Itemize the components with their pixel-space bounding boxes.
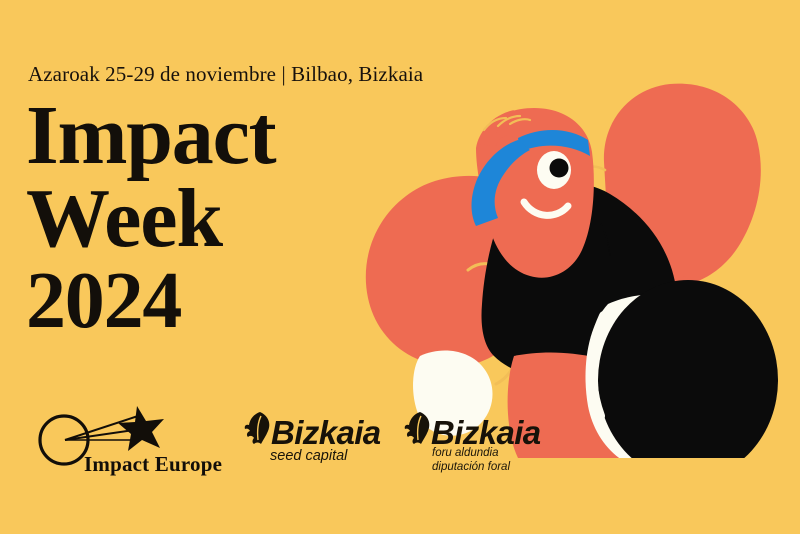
impact-week-poster: Azaroak 25-29 de noviembre | Bilbao, Biz… <box>0 0 800 534</box>
sponsor-logo-strip: Impact Europe Bizkaia seed capital <box>22 404 542 490</box>
bizkaia-seed-subtitle-line1: seed capital <box>270 448 347 465</box>
oak-leaf-icon <box>244 410 274 448</box>
oak-leaf-icon <box>404 410 434 448</box>
bizkaia-foral-wordmark: Bizkaia <box>431 417 541 448</box>
athlete-right-sneaker <box>585 280 778 458</box>
title-line-impact: Impact <box>26 96 275 177</box>
logo-impact-europe: Impact Europe <box>26 404 236 490</box>
impact-europe-wordmark: Impact Europe <box>84 452 222 477</box>
bizkaia-foral-subtitle: foru aldundia diputación foral <box>432 447 510 474</box>
bizkaia-seed-wordmark: Bizkaia <box>271 417 381 448</box>
logo-bizkaia-foru-aldundia: Bizkaia foru aldundia diputación foral <box>404 404 554 490</box>
bizkaia-foral-subtitle-line2: diputación foral <box>432 461 510 475</box>
title-line-year: 2024 <box>26 263 275 340</box>
athlete-eye-pupil <box>550 159 569 178</box>
bizkaia-seed-subtitle: seed capital <box>270 448 347 465</box>
logo-bizkaia-seed-capital: Bizkaia seed capital <box>244 404 394 490</box>
page-title: Impact Week 2024 <box>26 96 275 340</box>
title-line-week: Week <box>26 179 275 260</box>
weightlifter-athlete-illustration <box>358 78 800 458</box>
bizkaia-foral-subtitle-line1: foru aldundia <box>432 447 510 461</box>
